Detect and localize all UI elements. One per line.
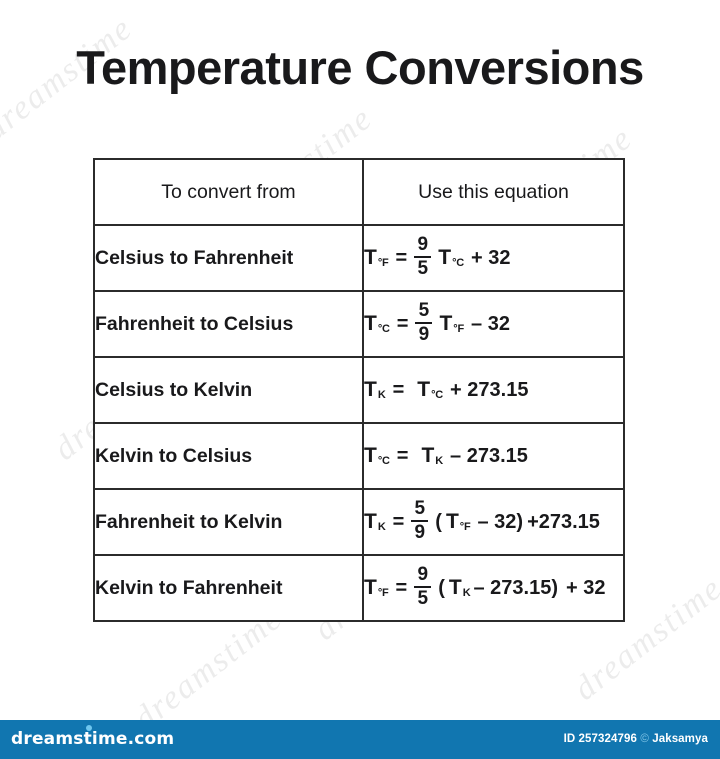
equation-tail: + 273.15 bbox=[450, 380, 528, 400]
fraction-denominator: 5 bbox=[416, 259, 429, 278]
equation-inner-tail: – 32) bbox=[477, 512, 523, 532]
equation-lhs-variable: TK bbox=[364, 379, 385, 400]
equation-operator: = bbox=[397, 314, 409, 334]
equation-expression: T°F = 9 5 T°C + 32 bbox=[364, 236, 511, 279]
equation-lhs-variable: TK bbox=[364, 511, 385, 532]
equation-lhs-variable: T°C bbox=[364, 445, 389, 466]
equation-term-variable: T°C bbox=[438, 247, 463, 268]
equation-lhs-variable: T°C bbox=[364, 313, 389, 334]
equation-tail: – 32 bbox=[471, 314, 510, 334]
table-row: Celsius to Fahrenheit T°F = 9 5 T°C bbox=[94, 225, 624, 291]
fraction-numerator: 9 bbox=[416, 565, 429, 584]
conversion-equation: T°C = TK – 273.15 bbox=[363, 423, 624, 489]
column-header-equation: Use this equation bbox=[363, 159, 624, 225]
fraction-numerator: 5 bbox=[418, 301, 431, 320]
equation-tail: + 32 bbox=[566, 578, 605, 598]
document-page: Temperature Conversions To convert from … bbox=[0, 0, 720, 759]
fraction-numerator: 9 bbox=[416, 235, 429, 254]
equation-tail: +273.15 bbox=[527, 512, 600, 532]
fraction-denominator: 9 bbox=[413, 523, 426, 542]
equation-lhs-variable: T°F bbox=[364, 577, 388, 598]
column-header-convert-from: To convert from bbox=[94, 159, 363, 225]
equation-tail: + 32 bbox=[471, 248, 510, 268]
equation-fraction: 5 9 bbox=[415, 301, 432, 344]
equation-term-variable: TK bbox=[449, 577, 470, 598]
equation-term-variable: T°C bbox=[417, 379, 442, 400]
equation-expression: T°C = TK – 273.15 bbox=[364, 445, 528, 466]
dreamstime-logo[interactable]: dreamstime.com bbox=[11, 729, 174, 749]
conversion-equation: TK = 5 9 ( T°F – 3 bbox=[363, 489, 624, 555]
image-id: ID 257324796 bbox=[564, 733, 637, 745]
table-row: Fahrenheit to Kelvin TK = 5 9 ( bbox=[94, 489, 624, 555]
equation-operator: = bbox=[397, 446, 409, 466]
stock-photo-footer-bar: dreamstime.com ID 257324796 © Jaksamya bbox=[0, 720, 720, 759]
equation-fraction: 9 5 bbox=[414, 235, 431, 278]
conversion-equation: TK = T°C + 273.15 bbox=[363, 357, 624, 423]
page-title: Temperature Conversions bbox=[0, 40, 720, 95]
equation-inner-tail: – 273.15) bbox=[473, 578, 558, 598]
equation-open-paren: ( bbox=[438, 578, 445, 598]
equation-operator: = bbox=[393, 512, 405, 532]
equation-expression: T°F = 9 5 ( TK – 2 bbox=[364, 566, 605, 609]
equation-term-variable: T°F bbox=[446, 511, 470, 532]
equation-fraction: 9 5 bbox=[414, 565, 431, 608]
image-credit: ID 257324796 © Jaksamya bbox=[564, 733, 708, 745]
conversion-label: Kelvin to Fahrenheit bbox=[94, 555, 363, 621]
equation-tail: – 273.15 bbox=[450, 446, 528, 466]
equation-term-variable: T°F bbox=[439, 313, 463, 334]
conversion-label: Celsius to Fahrenheit bbox=[94, 225, 363, 291]
table-row: Fahrenheit to Celsius T°C = 5 9 T°F bbox=[94, 291, 624, 357]
temperature-conversion-table: To convert from Use this equation Celsiu… bbox=[93, 158, 625, 622]
conversion-equation: T°C = 5 9 T°F – 32 bbox=[363, 291, 624, 357]
conversion-label: Celsius to Kelvin bbox=[94, 357, 363, 423]
equation-lhs-variable: T°F bbox=[364, 247, 388, 268]
equation-expression: T°C = 5 9 T°F – 32 bbox=[364, 302, 510, 345]
conversion-equation: T°F = 9 5 ( TK – 2 bbox=[363, 555, 624, 621]
equation-term-variable: TK bbox=[421, 445, 442, 466]
table-row: Celsius to Kelvin TK = T°C + 273.15 bbox=[94, 357, 624, 423]
equation-open-paren: ( bbox=[435, 512, 442, 532]
conversion-label: Fahrenheit to Kelvin bbox=[94, 489, 363, 555]
equation-operator: = bbox=[396, 248, 408, 268]
conversion-equation: T°F = 9 5 T°C + 32 bbox=[363, 225, 624, 291]
table-header-row: To convert from Use this equation bbox=[94, 159, 624, 225]
equation-operator: = bbox=[393, 380, 405, 400]
conversion-label: Kelvin to Celsius bbox=[94, 423, 363, 489]
equation-expression: TK = T°C + 273.15 bbox=[364, 379, 528, 400]
logo-dot-icon bbox=[86, 725, 92, 731]
copyright-icon: © bbox=[640, 733, 649, 745]
conversion-label: Fahrenheit to Celsius bbox=[94, 291, 363, 357]
table-row: Kelvin to Celsius T°C = TK – 273.15 bbox=[94, 423, 624, 489]
author-name: Jaksamya bbox=[652, 733, 708, 745]
equation-expression: TK = 5 9 ( T°F – 3 bbox=[364, 500, 600, 543]
table-row: Kelvin to Fahrenheit T°F = 9 5 ( bbox=[94, 555, 624, 621]
equation-fraction: 5 9 bbox=[411, 499, 428, 542]
fraction-denominator: 5 bbox=[416, 589, 429, 608]
fraction-denominator: 9 bbox=[418, 325, 431, 344]
equation-operator: = bbox=[396, 578, 408, 598]
fraction-numerator: 5 bbox=[413, 499, 426, 518]
